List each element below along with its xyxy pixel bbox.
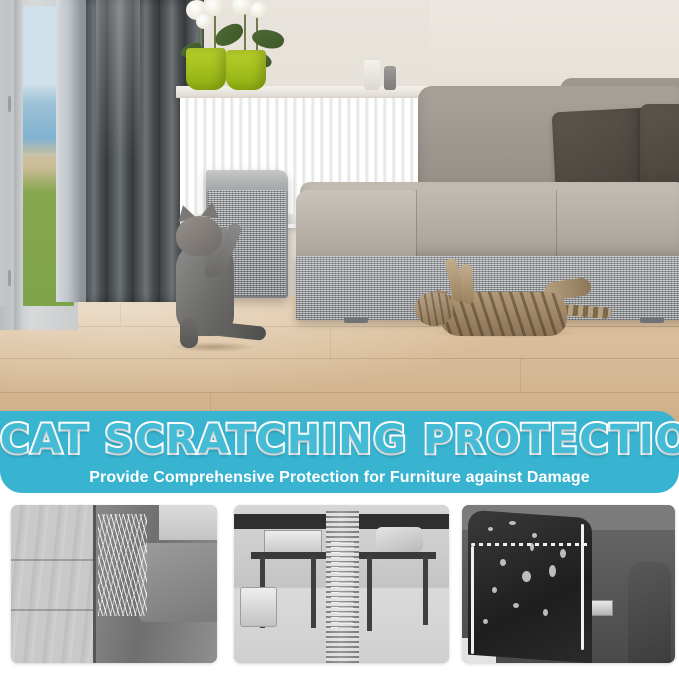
flower-pot [226, 50, 266, 90]
cat-head [176, 216, 222, 256]
sofa-chaise-cushion [296, 190, 416, 260]
page-subtitle: Provide Comprehensive Protection for Fur… [0, 469, 679, 487]
page-title: CAT SCRATCHING PROTECTION [0, 417, 679, 463]
bench-top-cushion [206, 170, 288, 192]
damage-examples-row [0, 505, 679, 676]
window-sash [0, 0, 6, 306]
cat-tail [563, 304, 612, 319]
tabby-cat [405, 262, 605, 340]
headline-banner: CAT SCRATCHING PROTECTION Provide Compre… [0, 411, 679, 493]
photo-shredded-sofa-corner [11, 505, 217, 663]
window-handle [8, 96, 11, 112]
sheer-curtain [56, 0, 86, 302]
decor-vase [384, 66, 396, 90]
cat-paw [460, 264, 475, 305]
window-post [14, 0, 23, 330]
curtain-highlight [96, 0, 140, 160]
photo-scratched-leather-chair [462, 505, 675, 663]
product-image: CAT SCRATCHING PROTECTION Provide Compre… [0, 0, 679, 676]
hero-lifestyle-photo [0, 0, 679, 430]
cat-head [415, 292, 453, 326]
damage-panel-2 [234, 505, 449, 663]
damage-panel-1 [11, 505, 217, 663]
window-handle [8, 270, 11, 286]
gray-cat [158, 200, 268, 350]
cat-hind-leg [180, 318, 198, 348]
photo-frayed-rope-post [234, 505, 449, 663]
damage-panel-3 [462, 505, 675, 663]
flower-pot [186, 48, 226, 90]
decor-vase [364, 60, 380, 90]
